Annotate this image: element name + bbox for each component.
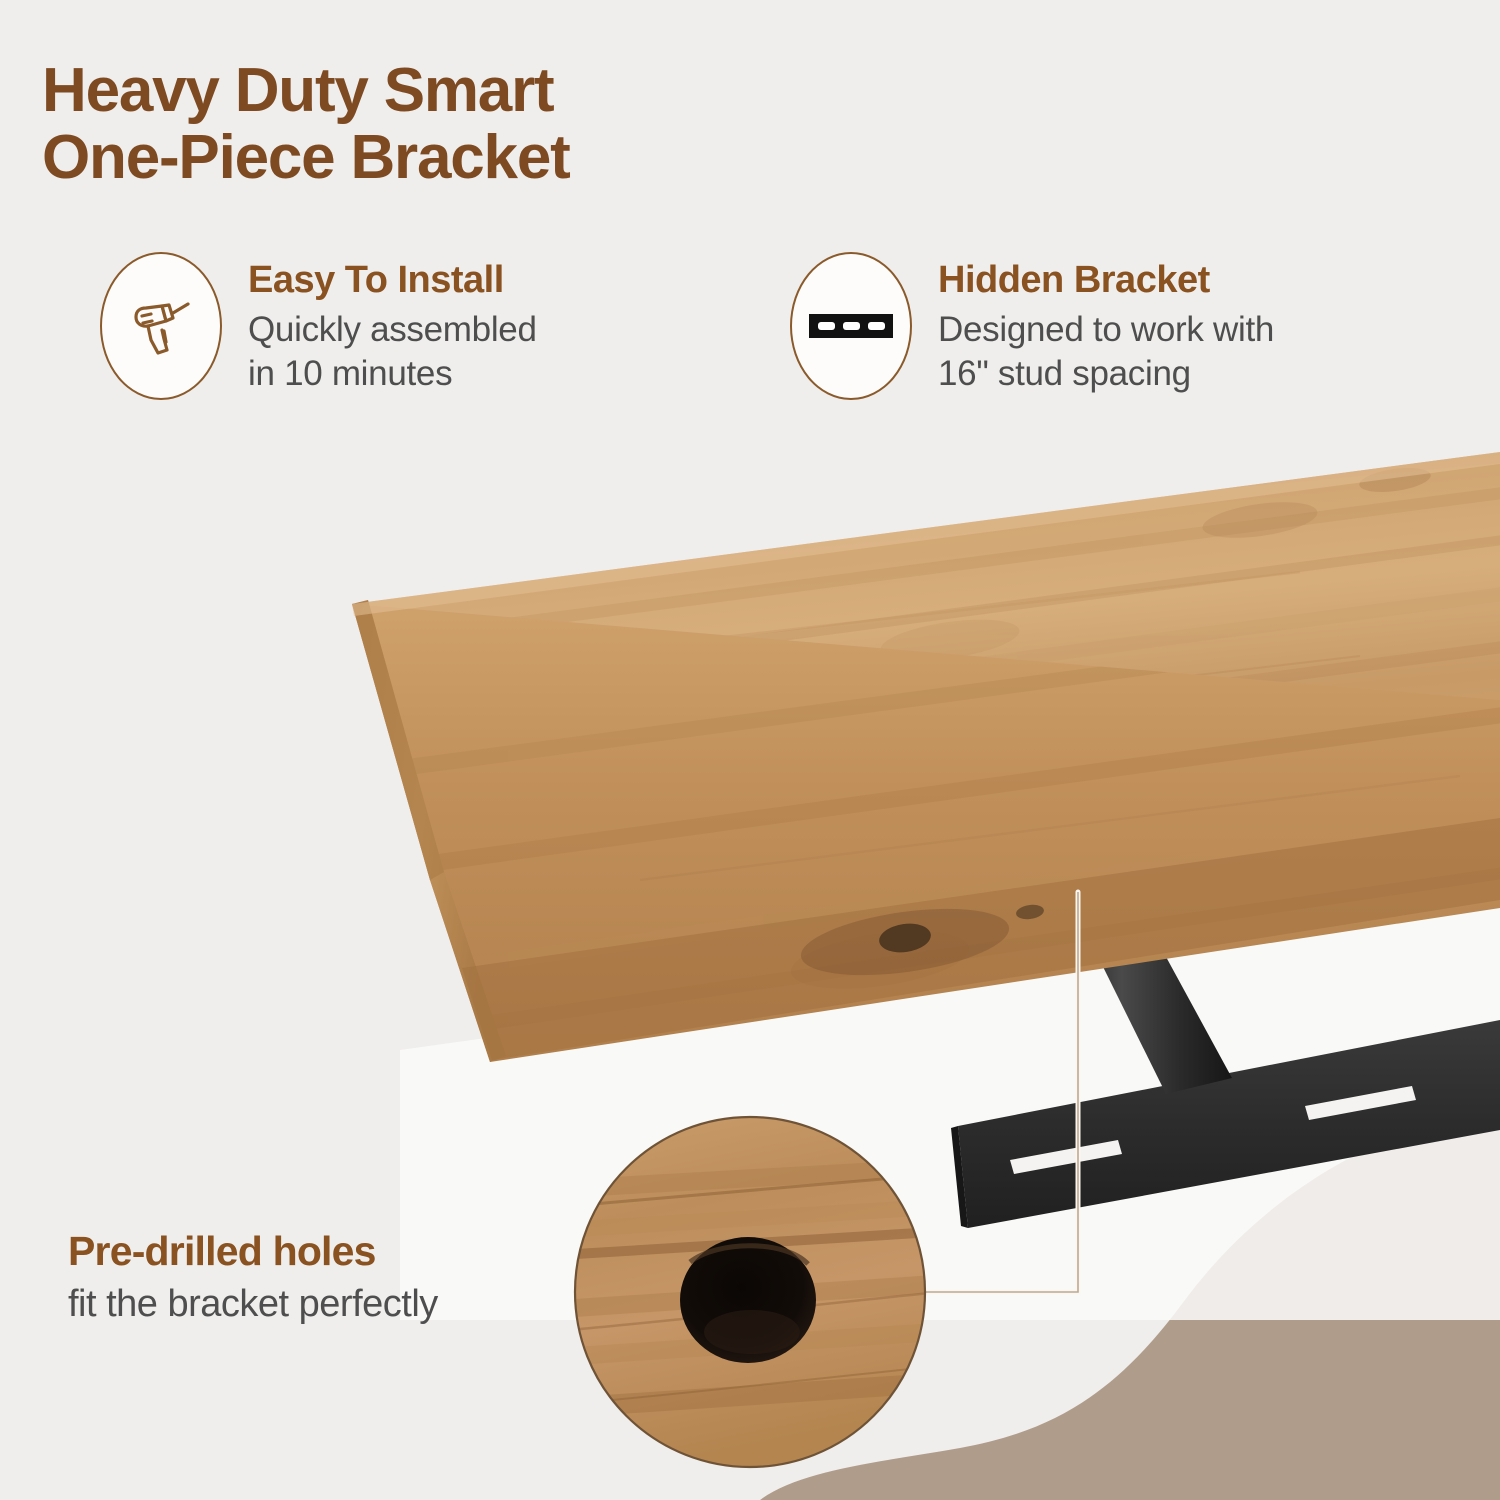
feature-sub-line-2: 16" stud spacing	[938, 352, 1274, 396]
caption-sub: fit the bracket perfectly	[68, 1283, 588, 1326]
pre-drilled-holes-caption: Pre-drilled holes fit the bracket perfec…	[68, 1228, 588, 1326]
feature-sub-line-1: Quickly assembled	[248, 308, 537, 352]
feature-heading: Hidden Bracket	[938, 259, 1274, 302]
title-line-2: One-Piece Bracket	[42, 125, 942, 192]
feature-row: Easy To Install Quickly assembled in 10 …	[0, 252, 1500, 422]
wall-bracket-icon	[808, 309, 894, 343]
feature-heading: Easy To Install	[248, 259, 537, 302]
feature-sub-line-1: Designed to work with	[938, 308, 1274, 352]
page-title: Heavy Duty Smart One-Piece Bracket	[42, 58, 942, 192]
feature-hidden-bracket: Hidden Bracket Designed to work with 16"…	[790, 252, 1274, 400]
feature-sub-line-2: in 10 minutes	[248, 352, 537, 396]
drill-icon-badge	[100, 252, 222, 400]
caption-heading: Pre-drilled holes	[68, 1228, 588, 1275]
drill-icon	[122, 287, 200, 365]
feature-text: Hidden Bracket Designed to work with 16"…	[938, 257, 1274, 396]
wall-bracket-icon-badge	[790, 252, 912, 400]
feature-easy-to-install: Easy To Install Quickly assembled in 10 …	[100, 252, 537, 400]
feature-text: Easy To Install Quickly assembled in 10 …	[248, 257, 537, 396]
title-line-1: Heavy Duty Smart	[42, 58, 942, 125]
